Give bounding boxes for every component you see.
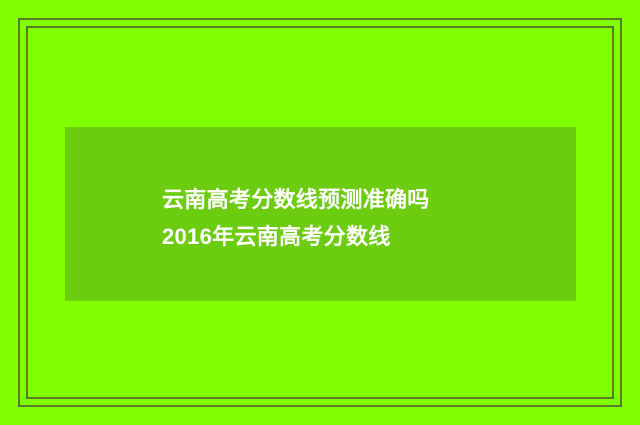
headline-line-1: 云南高考分数线预测准确吗 [162, 181, 562, 218]
headline-line-2: 2016年云南高考分数线 [162, 218, 562, 255]
content-panel: 云南高考分数线预测准确吗 2016年云南高考分数线 [65, 127, 576, 301]
banner-canvas: 云南高考分数线预测准确吗 2016年云南高考分数线 [0, 0, 640, 425]
headline-text-block: 云南高考分数线预测准确吗 2016年云南高考分数线 [162, 181, 562, 255]
